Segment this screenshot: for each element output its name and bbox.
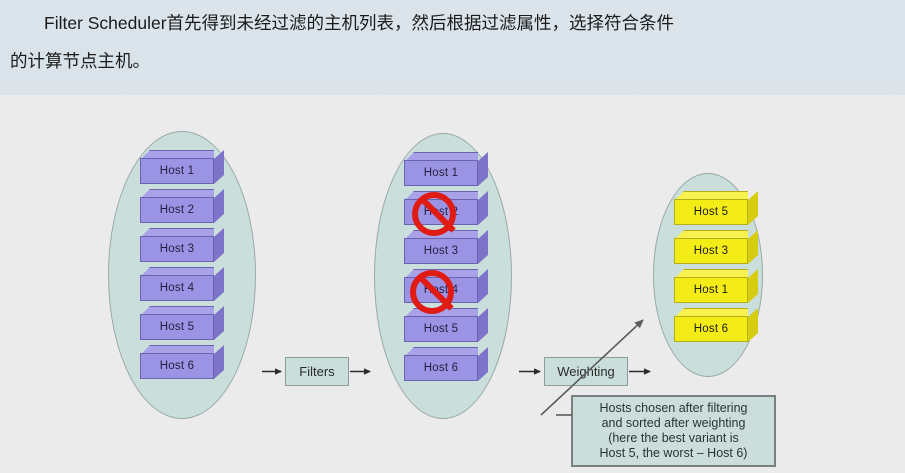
host-box-label: Host 3: [140, 236, 214, 262]
diagram-canvas: Host 1 Host 2 Host 3 Host 4 Host 5 Host …: [0, 95, 905, 473]
host-box[interactable]: Host 1: [140, 150, 216, 178]
host-box[interactable]: Host 3: [140, 228, 216, 256]
host-box[interactable]: Host 5: [140, 306, 216, 334]
slide-page: Filter Scheduler首先得到未经过滤的主机列表，然后根据过滤属性，选…: [0, 0, 905, 473]
caption-line-1: Hosts chosen after filtering: [600, 401, 748, 416]
header-line-2: 的计算节点主机。: [10, 51, 150, 71]
host-box[interactable]: Host 6: [140, 345, 216, 373]
host-box-label: Host 1: [674, 277, 748, 303]
host-box[interactable]: Host 3: [674, 230, 750, 258]
host-box[interactable]: Host 6: [674, 308, 750, 336]
caption-box: Hosts chosen after filtering and sorted …: [571, 395, 776, 467]
host-box-label: Host 5: [674, 199, 748, 225]
host-box-label: Host 6: [674, 316, 748, 342]
host-box-label: Host 5: [140, 314, 214, 340]
host-box[interactable]: Host 1: [404, 152, 480, 180]
host-box-label: Host 3: [404, 238, 478, 264]
host-box-label: Host 1: [404, 160, 478, 186]
host-box-label: Host 2: [140, 197, 214, 223]
header-line-1: Filter Scheduler首先得到未经过滤的主机列表，然后根据过滤属性，选…: [44, 13, 674, 33]
host-box[interactable]: Host 4: [140, 267, 216, 295]
no-entry-icon: [410, 270, 454, 314]
host-box[interactable]: Host 1: [674, 269, 750, 297]
header-paragraph: Filter Scheduler首先得到未经过滤的主机列表，然后根据过滤属性，选…: [10, 4, 900, 80]
filters-process-box[interactable]: Filters: [285, 357, 349, 386]
host-box-label: Host 4: [140, 275, 214, 301]
host-box-side-face: [748, 191, 758, 225]
caption-line-3: (here the best variant is: [608, 431, 739, 446]
host-box-label: Host 6: [140, 353, 214, 379]
weighting-process-box[interactable]: Weighting: [544, 357, 628, 386]
no-entry-icon: [412, 192, 456, 236]
host-box-label: Host 3: [674, 238, 748, 264]
host-box[interactable]: Host 6: [404, 347, 480, 375]
host-box-label: Host 5: [404, 316, 478, 342]
host-box-label: Host 1: [140, 158, 214, 184]
caption-line-4: Host 5, the worst – Host 6): [600, 446, 748, 461]
host-box[interactable]: Host 2: [140, 189, 216, 217]
host-box[interactable]: Host 5: [674, 191, 750, 219]
weighting-label: Weighting: [557, 364, 615, 379]
filters-label: Filters: [299, 364, 334, 379]
host-box-side-face: [748, 308, 758, 342]
host-box-label: Host 6: [404, 355, 478, 381]
header-band: Filter Scheduler首先得到未经过滤的主机列表，然后根据过滤属性，选…: [0, 0, 905, 95]
caption-line-2: and sorted after weighting: [602, 416, 746, 431]
host-box[interactable]: Host 5: [404, 308, 480, 336]
